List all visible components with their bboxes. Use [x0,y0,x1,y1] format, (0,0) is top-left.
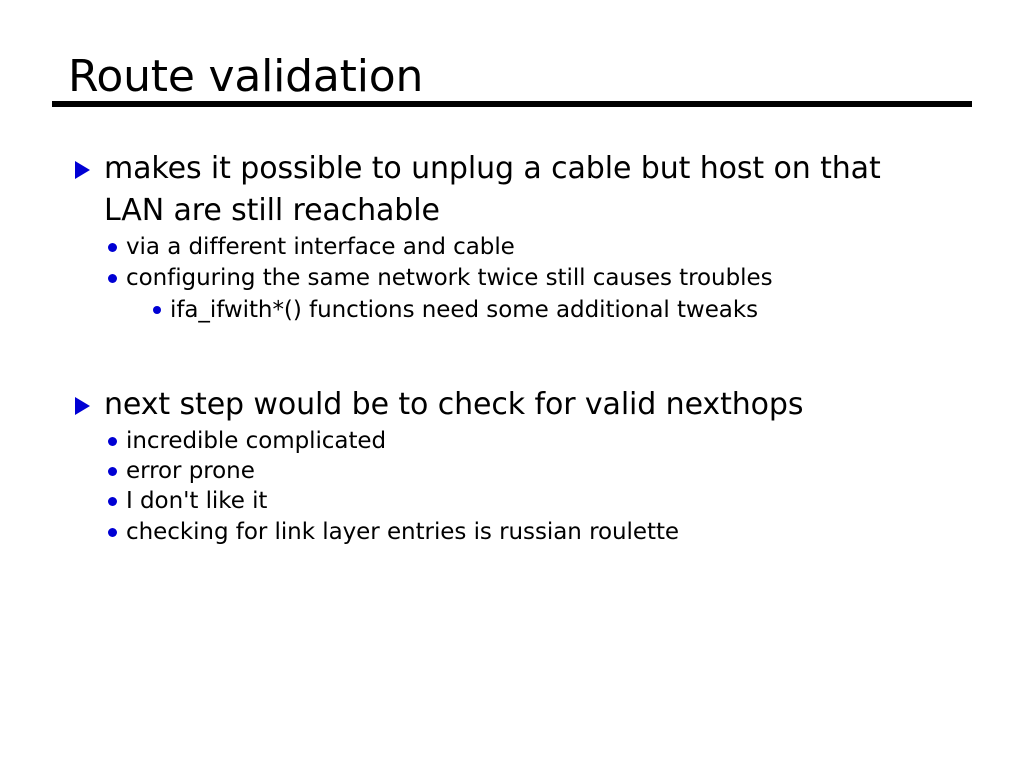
bullet-text: ifa_ifwith*() functions need some additi… [170,294,1024,326]
dot-bullet-icon [108,243,117,252]
bullet-text: incredible complicated [126,426,1024,456]
triangle-bullet-icon [75,397,90,415]
outline-spacer [0,326,1024,384]
bullet-text: next step would be to check for valid ne… [104,384,904,426]
bullet-text: via a different interface and cable [126,232,1024,263]
dot-bullet-icon [108,274,117,283]
bullet-item-level2: configuring the same network twice still… [0,263,1024,294]
bullet-item-level1: next step would be to check for valid ne… [0,384,1024,426]
triangle-bullet-icon [75,161,90,179]
bullet-text: makes it possible to unplug a cable but … [104,148,904,232]
dot-bullet-icon [108,528,117,537]
bullet-item-level2: checking for link layer entries is russi… [0,517,1024,548]
bullet-text: I don't like it [126,486,1024,517]
bullet-text: configuring the same network twice still… [126,263,1024,294]
dot-bullet-icon [108,497,117,506]
slide-body-outline: makes it possible to unplug a cable but … [0,148,1024,548]
bullet-item-level3: ifa_ifwith*() functions need some additi… [0,294,1024,326]
bullet-item-level2: I don't like it [0,486,1024,517]
bullet-item-level2: incredible complicated [0,426,1024,456]
dot-bullet-icon [108,437,117,446]
slide: Route validation makes it possible to un… [0,0,1024,768]
dot-bullet-icon [153,306,161,314]
bullet-item-level2: error prone [0,456,1024,486]
bullet-item-level2: via a different interface and cable [0,232,1024,263]
bullet-text: error prone [126,456,1024,486]
dot-bullet-icon [108,467,117,476]
page-title: Route validation [68,52,423,102]
bullet-text: checking for link layer entries is russi… [126,517,1024,548]
bullet-item-level1: makes it possible to unplug a cable but … [0,148,1024,232]
title-underline-rule [52,101,972,107]
